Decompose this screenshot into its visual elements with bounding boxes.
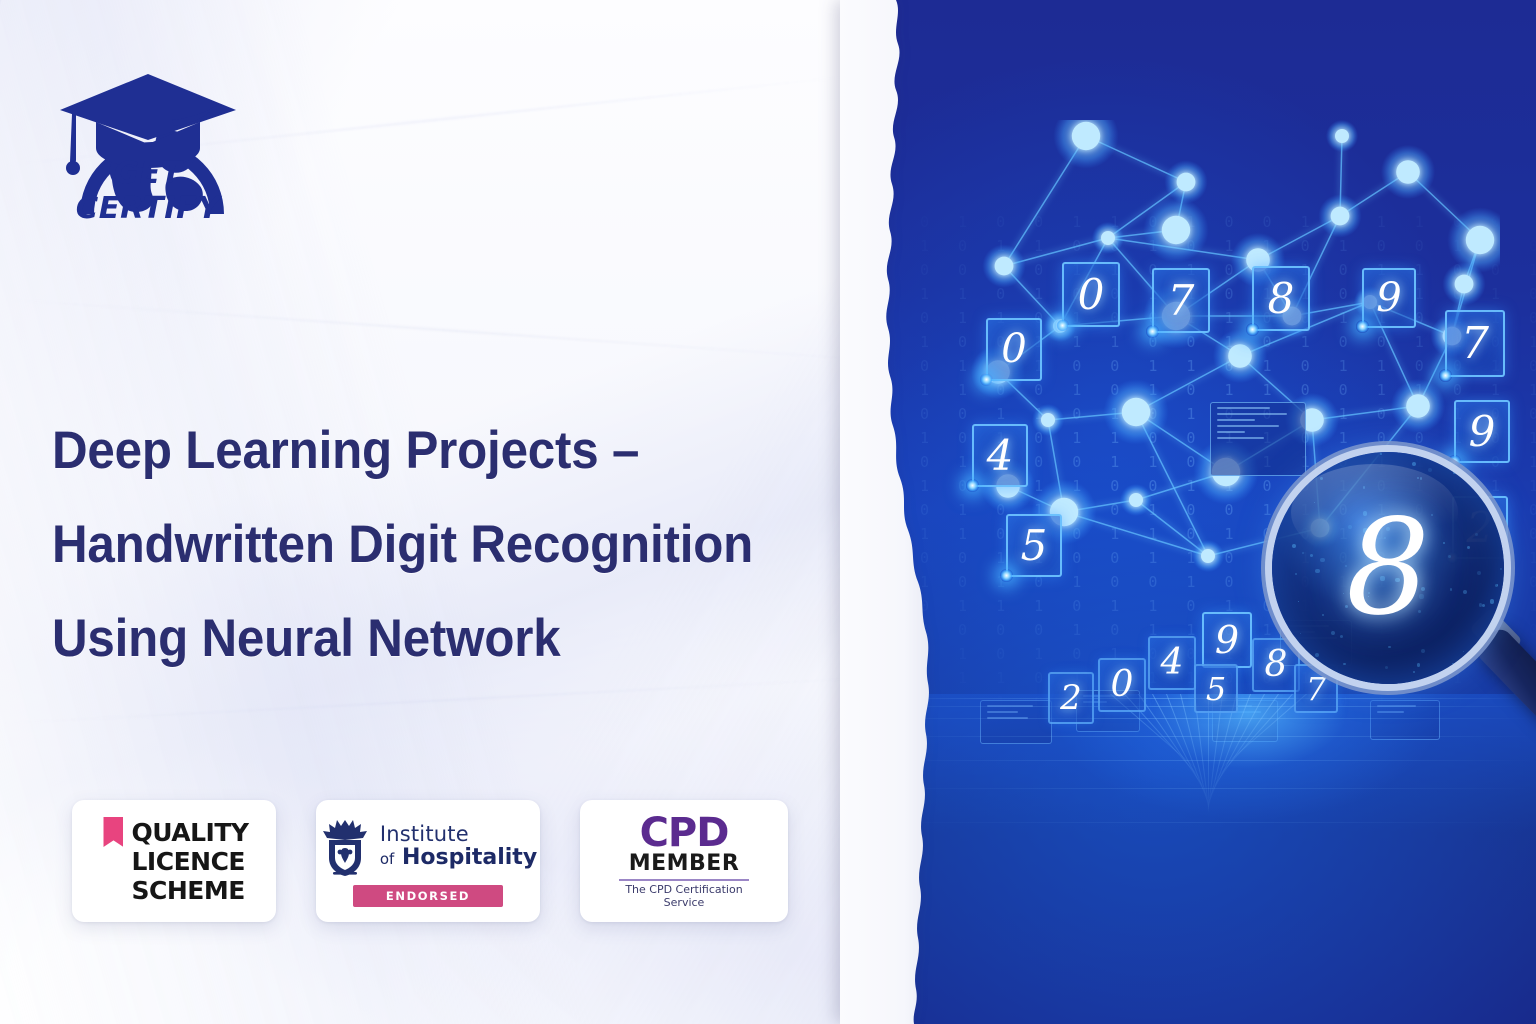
node-spark	[1056, 319, 1069, 332]
page-title: Deep Learning Projects – Handwritten Dig…	[52, 404, 787, 686]
page-title-line-3: Using Neural Network	[52, 592, 787, 686]
digit-tile: 5	[1194, 664, 1238, 713]
page-title-line-1: Deep Learning Projects –	[52, 404, 787, 498]
ioh-text: Institute of Hospitality	[380, 824, 537, 869]
cpd-line-2: MEMBER	[629, 852, 740, 876]
digit-tile: 8	[1252, 266, 1310, 331]
ioh-hospitality: Hospitality	[402, 845, 537, 870]
logo-wordmark: GET CERTIFY	[48, 156, 248, 226]
digit-tile: 7	[1152, 268, 1210, 333]
magnifying-glass-icon: 8	[1272, 452, 1504, 684]
ioh-line-1: Institute	[380, 824, 537, 845]
heraldic-crest-icon	[319, 816, 371, 878]
cpd-logo: CPD MEMBER The CPD Certification Service	[619, 814, 749, 909]
cpd-line-4: Service	[664, 896, 705, 909]
poster-stage: 0 1 0 0 1 1 0 1 0 0 1 0 1 1 0 0 1 0 1 0 …	[0, 0, 1536, 1024]
cpd-line-1: CPD	[640, 814, 729, 852]
digit-tile: 2	[1048, 672, 1094, 724]
node-spark	[1146, 325, 1159, 338]
magnified-digit: 8	[1272, 452, 1504, 684]
qls-first-row: QUALITY	[103, 817, 248, 847]
node-spark	[1246, 323, 1259, 336]
page-title-line-2: Handwritten Digit Recognition	[52, 498, 787, 592]
accreditation-badges: QUALITY LICENCE SCHEME	[72, 800, 788, 922]
qls-line-3: SCHEME	[103, 876, 244, 905]
cpd-line-3: The CPD Certification	[625, 883, 742, 896]
qls-line-2: LICENCE	[103, 847, 245, 876]
digit-tile: 7	[1445, 310, 1505, 377]
digit-tile: 9	[1362, 268, 1416, 328]
cpd-divider	[619, 879, 749, 881]
badge-cpd-member[interactable]: CPD MEMBER The CPD Certification Service	[580, 800, 788, 922]
digit-tile: 0	[1098, 658, 1146, 712]
qls-line-1: QUALITY	[131, 818, 248, 847]
ioh-of: of	[380, 850, 394, 868]
digit-tile: 0	[1062, 262, 1120, 327]
ioh-top-row: Institute of Hospitality	[319, 816, 537, 878]
ribbon-bookmark-icon	[103, 817, 123, 847]
badge-quality-licence-scheme[interactable]: QUALITY LICENCE SCHEME	[72, 800, 276, 922]
ioh-endorsed-ribbon: ENDORSED	[353, 885, 503, 907]
badge-institute-of-hospitality[interactable]: Institute of Hospitality ENDORSED	[316, 800, 540, 922]
ioh-logo: Institute of Hospitality ENDORSED	[319, 816, 537, 907]
qls-logo: QUALITY LICENCE SCHEME	[99, 817, 248, 905]
torn-paper-edge	[840, 0, 1040, 1024]
magnifier-lens: 8	[1272, 452, 1504, 684]
digit-tile: 4	[1148, 636, 1196, 690]
brand-logo[interactable]: GET CERTIFY	[50, 48, 246, 226]
ioh-line-2: of Hospitality	[380, 847, 537, 869]
digit-tile: 9	[1202, 612, 1252, 668]
